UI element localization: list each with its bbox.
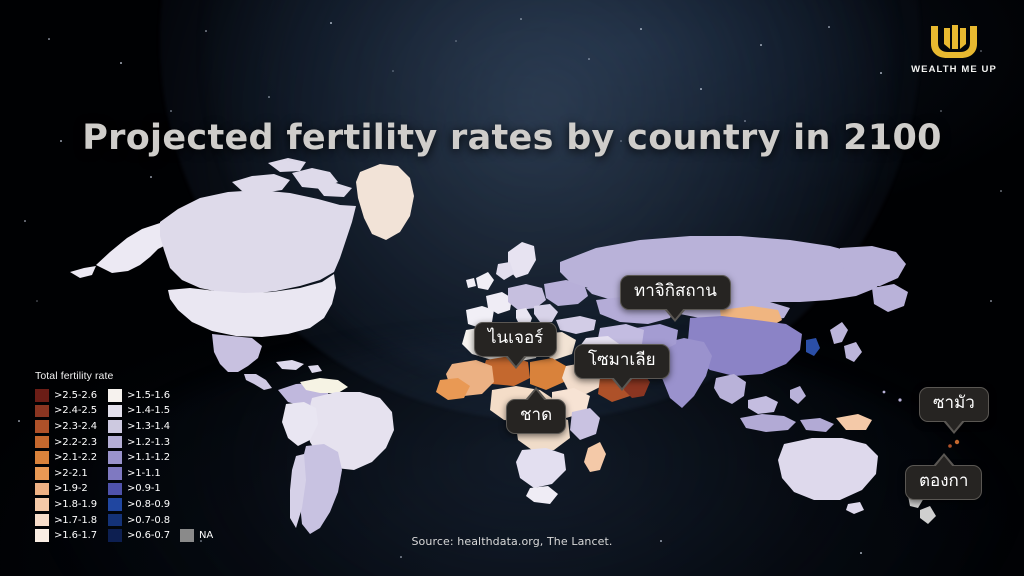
legend-swatch <box>108 389 122 402</box>
brand-logo: WEALTH ME UP <box>898 22 1010 75</box>
infographic-stage: WEALTH ME UP Projected fertility rates b… <box>0 0 1024 576</box>
legend-row: >1.1-1.2 <box>108 450 213 465</box>
callout-tail <box>666 308 684 319</box>
legend-row: >0.9-1 <box>108 482 213 497</box>
legend-swatch <box>35 451 49 464</box>
wheat-sheaf-icon <box>926 22 982 60</box>
legend-label: >1.1-1.2 <box>127 452 170 463</box>
legend-swatch <box>35 389 49 402</box>
legend-swatch <box>108 451 122 464</box>
callout-tail <box>507 355 525 366</box>
brand-name: WEALTH ME UP <box>898 64 1010 75</box>
legend-swatch <box>108 498 122 511</box>
legend-row: >2.4-2.5 <box>35 404 97 419</box>
source-credit: Source: healthdata.org, The Lancet. <box>0 535 1024 548</box>
legend-swatch <box>35 467 49 480</box>
legend-row: >2.5-2.6 <box>35 388 97 403</box>
legend-label: >1.9-2 <box>54 483 88 494</box>
legend-row: >2-2.1 <box>35 466 97 481</box>
legend-row: >1-1.1 <box>108 466 213 481</box>
legend-swatch <box>35 498 49 511</box>
legend-row: >2.3-2.4 <box>35 419 97 434</box>
legend-swatch <box>35 483 49 496</box>
legend-row: >2.1-2.2 <box>35 450 97 465</box>
callout-samoa[interactable]: ซามัว <box>919 387 989 422</box>
callout-niger[interactable]: ไนเจอร์ <box>474 322 557 357</box>
legend-label: >1.5-1.6 <box>127 390 170 401</box>
legend-row: >2.2-2.3 <box>35 435 97 450</box>
map-legend: Total fertility rate >2.5-2.6>2.4-2.5>2.… <box>35 370 213 543</box>
legend-swatch <box>35 436 49 449</box>
callout-tail <box>527 390 545 401</box>
legend-label: >0.9-1 <box>127 483 161 494</box>
legend-label: >0.7-0.8 <box>127 515 170 526</box>
legend-label: >1.8-1.9 <box>54 499 97 510</box>
legend-label: >1.3-1.4 <box>127 421 170 432</box>
legend-row: >1.4-1.5 <box>108 404 213 419</box>
legend-label: >0.8-0.9 <box>127 499 170 510</box>
legend-row: >0.8-0.9 <box>108 497 213 512</box>
legend-swatch <box>108 483 122 496</box>
legend-label: >2-2.1 <box>54 468 88 479</box>
legend-row: >1.2-1.3 <box>108 435 213 450</box>
legend-label: >2.5-2.6 <box>54 390 97 401</box>
legend-swatch <box>108 467 122 480</box>
legend-column-warm: >2.5-2.6>2.4-2.5>2.3-2.4>2.2-2.3>2.1-2.2… <box>35 388 97 543</box>
callout-tail <box>945 420 963 431</box>
legend-label: >2.2-2.3 <box>54 437 97 448</box>
legend-label: >2.1-2.2 <box>54 452 97 463</box>
legend-row: >0.7-0.8 <box>108 513 213 528</box>
legend-swatch <box>35 420 49 433</box>
legend-title: Total fertility rate <box>35 370 213 382</box>
legend-label: >2.4-2.5 <box>54 405 97 416</box>
callout-tail <box>613 377 631 388</box>
legend-label: >1-1.1 <box>127 468 161 479</box>
callout-somalia[interactable]: โซมาเลีย <box>574 344 670 379</box>
legend-swatch <box>108 420 122 433</box>
legend-row: >1.7-1.8 <box>35 513 97 528</box>
legend-swatch <box>35 405 49 418</box>
callout-tail <box>935 456 953 467</box>
legend-label: >1.4-1.5 <box>127 405 170 416</box>
legend-swatch <box>108 436 122 449</box>
legend-row: >1.5-1.6 <box>108 388 213 403</box>
legend-swatch <box>108 405 122 418</box>
legend-row: >1.8-1.9 <box>35 497 97 512</box>
legend-swatch <box>35 514 49 527</box>
legend-label: >2.3-2.4 <box>54 421 97 432</box>
legend-label: >1.2-1.3 <box>127 437 170 448</box>
page-title: Projected fertility rates by country in … <box>0 118 1024 158</box>
legend-row: >1.9-2 <box>35 482 97 497</box>
callout-chad[interactable]: ชาด <box>506 399 566 434</box>
callout-tonga[interactable]: ตองกา <box>905 465 982 500</box>
legend-label: >1.7-1.8 <box>54 515 97 526</box>
legend-column-cool: >1.5-1.6>1.4-1.5>1.3-1.4>1.2-1.3>1.1-1.2… <box>108 388 213 543</box>
callout-tajikistan[interactable]: ทาจิกิสถาน <box>620 275 731 310</box>
legend-swatch <box>108 514 122 527</box>
legend-row: >1.3-1.4 <box>108 419 213 434</box>
